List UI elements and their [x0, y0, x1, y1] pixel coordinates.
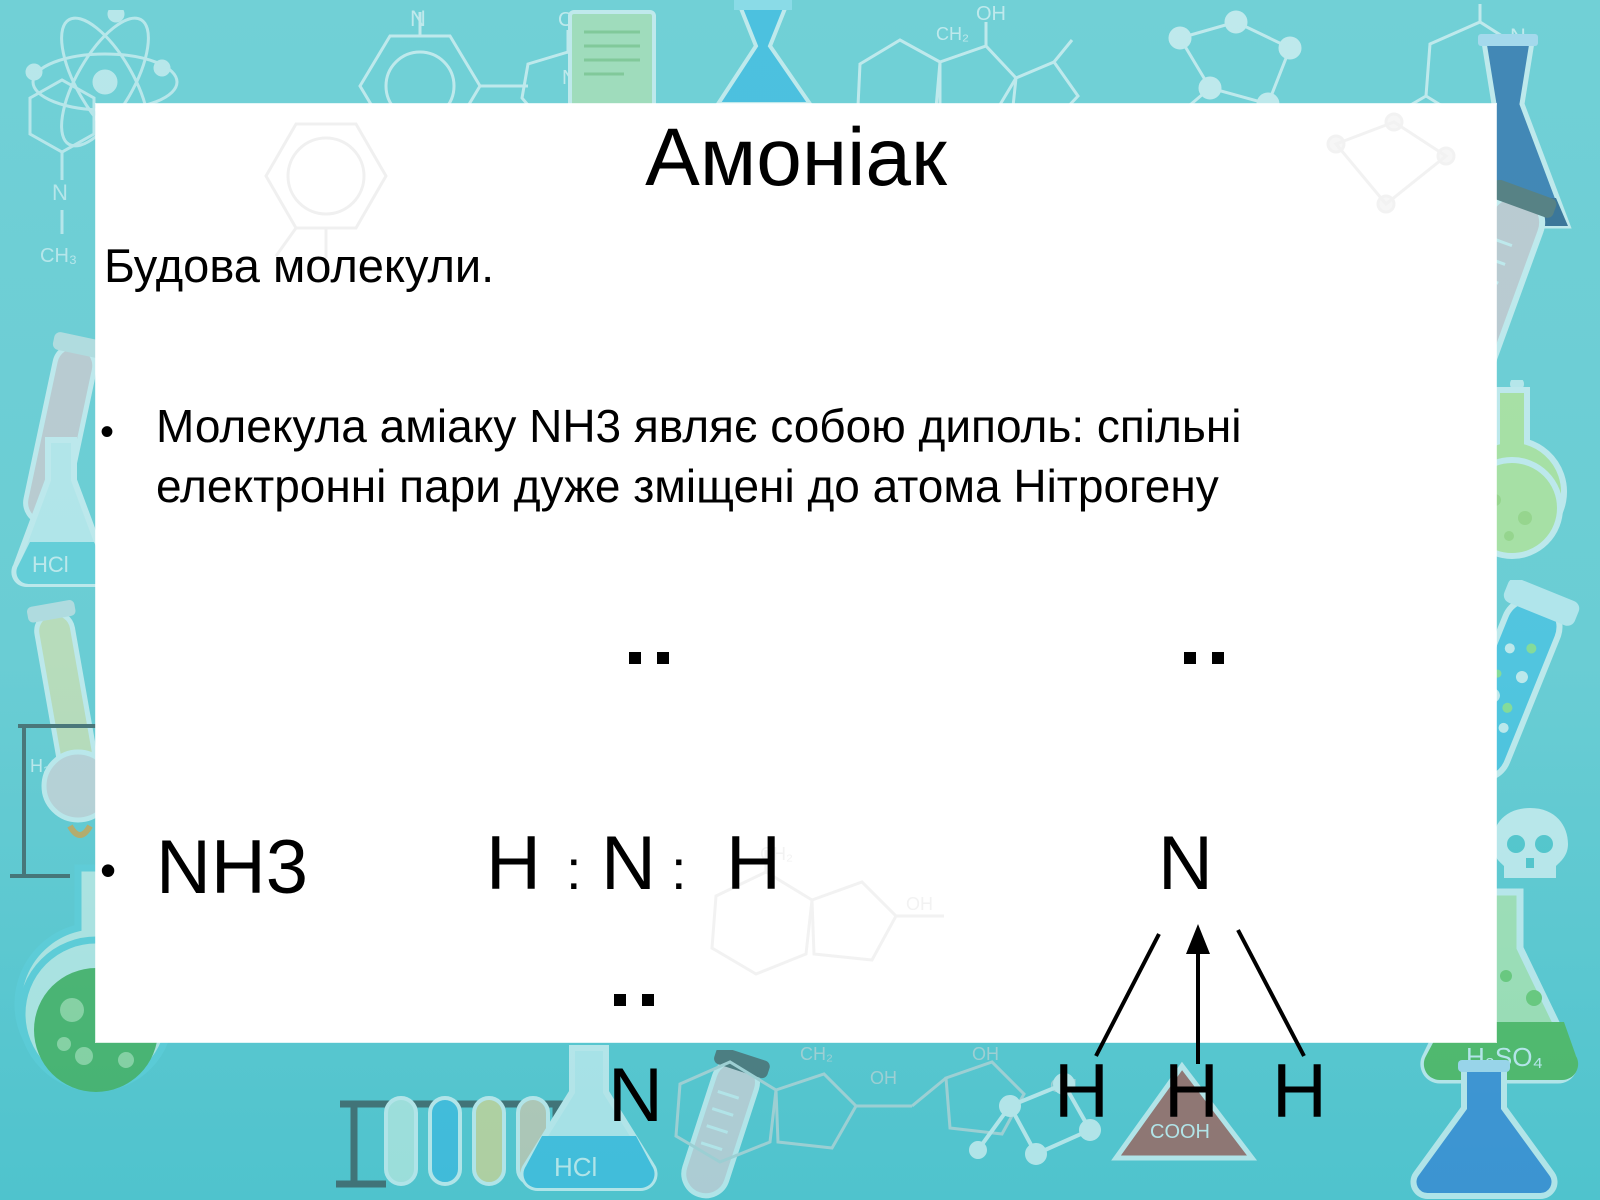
structural-hydrogen-3: H: [1272, 1052, 1327, 1132]
bond-arrowhead-middle: [1186, 924, 1210, 954]
bottom-atom-doodle-icon: [940, 1050, 1140, 1200]
svg-text:HCl: HCl: [554, 1152, 597, 1182]
svg-text:HCl: HCl: [32, 552, 69, 577]
bond-line-right: [1238, 930, 1304, 1056]
svg-text:N: N: [410, 6, 426, 31]
bond-line-left: [1096, 934, 1159, 1056]
svg-text:CH₂: CH₂: [800, 1044, 833, 1064]
svg-text:CH₂: CH₂: [936, 24, 969, 44]
lewis-nitrogen-lower: N: [608, 1056, 663, 1136]
list-item: • Молекула аміаку NH3 являє собою диполь…: [100, 396, 1430, 516]
structural-hydrogen-2: H: [1164, 1052, 1219, 1132]
page-title: Амоніак: [96, 114, 1496, 202]
structural-hydrogen-1: H: [1054, 1052, 1109, 1132]
slide-content: Амоніак Будова молекули. • Молекула аміа…: [96, 104, 1496, 1042]
skull-doodle-icon: [1482, 800, 1578, 890]
list-item-text: Молекула аміаку NH3 являє собою диполь: …: [156, 396, 1430, 516]
svg-text:CH₃: CH₃: [40, 245, 77, 267]
bottom-blue-flask-icon: [1390, 1060, 1600, 1200]
svg-text:OH: OH: [976, 4, 1006, 25]
slide: N CH₃ N CH₃ N: [0, 0, 1600, 1200]
bond-lines: [96, 624, 1496, 1044]
svg-text:N: N: [52, 180, 68, 205]
molecule-diagram: H : N : H N N H: [96, 624, 1496, 1044]
bullet-marker: •: [100, 396, 156, 452]
subheading: Будова молекули.: [104, 238, 1104, 294]
svg-text:OH: OH: [870, 1068, 897, 1088]
